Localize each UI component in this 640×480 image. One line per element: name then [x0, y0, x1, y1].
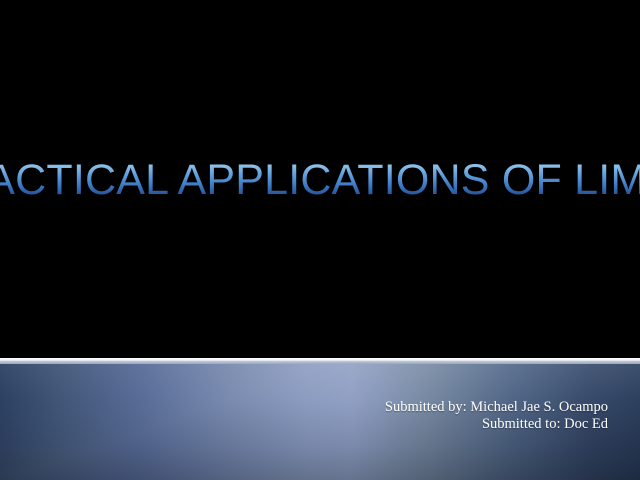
- slide-title-container: PRACTICAL APPLICATIONS OF LIMITS: [0, 150, 640, 212]
- page-title: PRACTICAL APPLICATIONS OF LIMITS: [0, 158, 640, 203]
- submitted-by-line: Submitted by: Michael Jae S. Ocampo: [385, 399, 608, 416]
- submitted-to-line: Submitted to: Doc Ed: [385, 416, 608, 433]
- submission-credits: Submitted by: Michael Jae S. Ocampo Subm…: [385, 399, 608, 433]
- title-slide: PRACTICAL APPLICATIONS OF LIMITS Submitt…: [0, 0, 640, 480]
